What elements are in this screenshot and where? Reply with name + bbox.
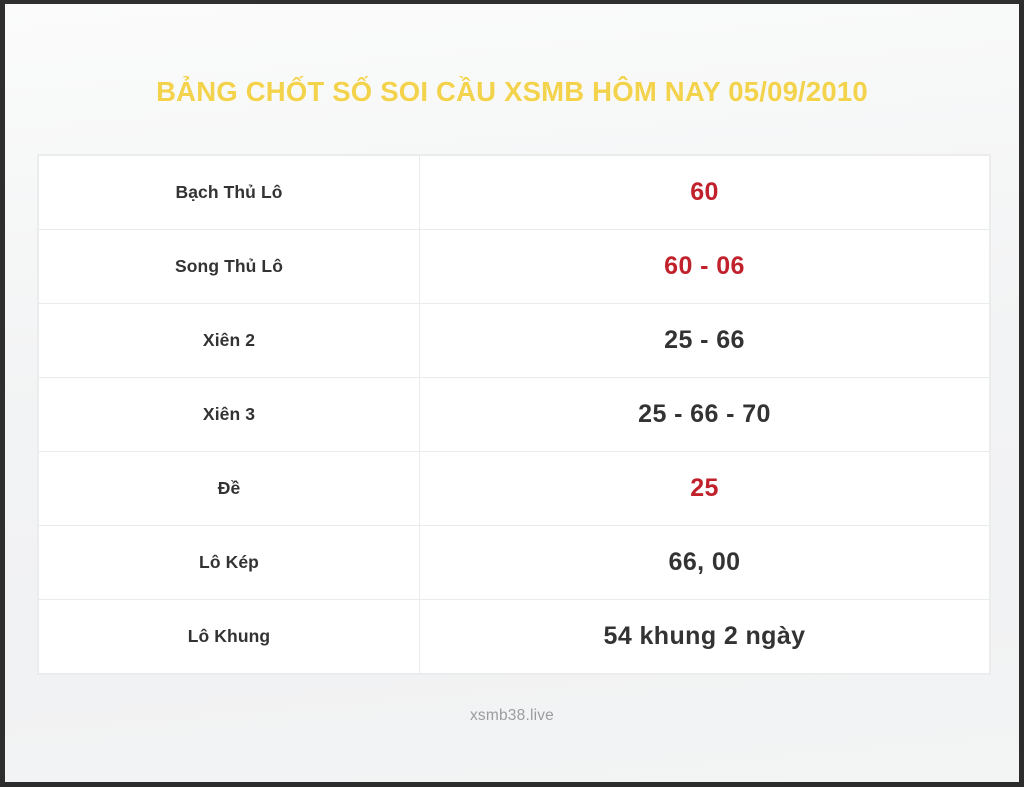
bet-type-label: Xiên 2	[39, 304, 420, 378]
lottery-prediction-card: BẢNG CHỐT SỐ SOI CẦU XSMB HÔM NAY 05/09/…	[5, 4, 1019, 782]
table-row: Xiên 325 - 66 - 70	[39, 378, 990, 452]
table-row: Xiên 225 - 66	[39, 304, 990, 378]
bet-type-label: Lô Kép	[39, 526, 420, 600]
bet-type-label: Bạch Thủ Lô	[39, 156, 420, 230]
table-row: Bạch Thủ Lô60	[39, 156, 990, 230]
bet-number-value: 25 - 66 - 70	[420, 378, 990, 452]
table-row: Lô Khung54 khung 2 ngày	[39, 600, 990, 674]
page-title: BẢNG CHỐT SỐ SOI CẦU XSMB HÔM NAY 05/09/…	[156, 78, 868, 106]
prediction-table-body: Bạch Thủ Lô60Song Thủ Lô60 - 06Xiên 225 …	[39, 156, 990, 674]
site-watermark: xsmb38.live	[5, 707, 1019, 725]
bet-type-label: Song Thủ Lô	[39, 230, 420, 304]
bet-type-label: Lô Khung	[39, 600, 420, 674]
table-row: Đề25	[39, 452, 990, 526]
bet-type-label: Đề	[39, 452, 420, 526]
image-frame: BẢNG CHỐT SỐ SOI CẦU XSMB HÔM NAY 05/09/…	[0, 0, 1024, 787]
bet-type-label: Xiên 3	[39, 378, 420, 452]
bet-number-value: 60 - 06	[420, 230, 990, 304]
table-row: Song Thủ Lô60 - 06	[39, 230, 990, 304]
bet-number-value: 60	[420, 156, 990, 230]
bet-number-value: 66, 00	[420, 526, 990, 600]
table-row: Lô Kép66, 00	[39, 526, 990, 600]
bet-number-value: 25	[420, 452, 990, 526]
prediction-table: Bạch Thủ Lô60Song Thủ Lô60 - 06Xiên 225 …	[38, 155, 990, 674]
bet-number-value: 25 - 66	[420, 304, 990, 378]
bet-number-value: 54 khung 2 ngày	[420, 600, 990, 674]
